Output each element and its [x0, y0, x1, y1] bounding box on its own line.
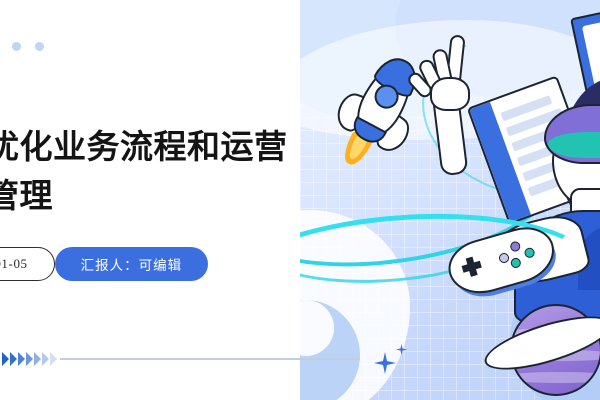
chevron-right-icon — [50, 352, 57, 366]
decorative-dots — [12, 42, 44, 51]
chevron-right-icon — [34, 352, 41, 366]
planet-icon — [500, 296, 600, 396]
title-line-2: 管理 — [0, 173, 346, 222]
chevron-arrows-icon — [2, 352, 57, 366]
chevron-right-icon — [2, 352, 9, 366]
chevron-right-icon — [26, 352, 33, 366]
divider-line — [60, 358, 360, 360]
chevron-right-icon — [10, 352, 17, 366]
planet-band — [510, 372, 600, 383]
date-badge: 2024-01-05 — [0, 247, 55, 281]
title-line-1: 优化业务流程和运营 — [0, 124, 346, 173]
presenter-meta: 2024-01-05 汇报人：可编辑 — [0, 247, 208, 281]
sparkle-icon-small — [396, 344, 407, 355]
raised-hand-icon — [410, 35, 480, 170]
chevron-right-icon — [42, 352, 49, 366]
palm — [430, 77, 470, 111]
chevron-right-icon — [18, 352, 25, 366]
dot — [35, 42, 44, 51]
sparkle-icon — [374, 352, 396, 374]
presenter-badge: 汇报人：可编辑 — [55, 247, 209, 281]
dot — [12, 42, 21, 51]
page-title: 优化业务流程和运营 管理 — [0, 124, 346, 222]
slide-canvas: 优化业务流程和运营 管理 2024-01-05 汇报人：可编辑 — [0, 0, 600, 400]
